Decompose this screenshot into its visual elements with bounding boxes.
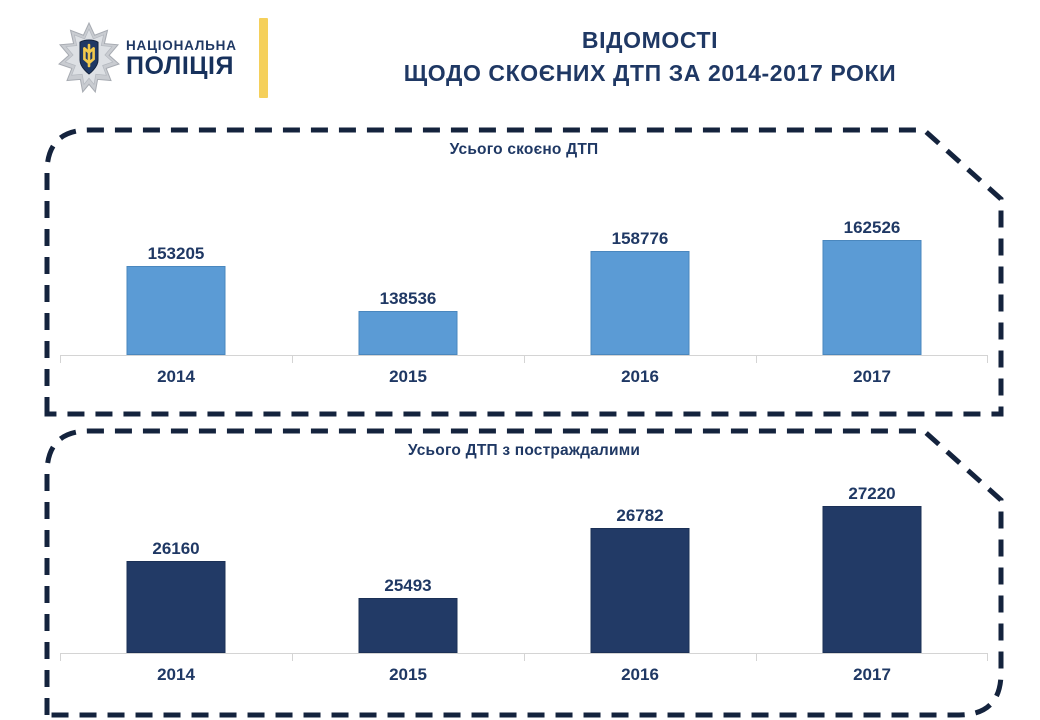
x-axis-label-2015: 2015: [389, 367, 427, 387]
category-slot-2014: 2014: [60, 167, 292, 407]
category-slot-2015: 2015: [292, 167, 524, 407]
x-axis-label-2015: 2015: [389, 665, 427, 685]
page-title-line-1: ВІДОМОСТІ: [300, 24, 1000, 57]
chart-title: Усього ДТП з постраждалими: [44, 442, 1004, 460]
x-axis-label-2014: 2014: [157, 665, 195, 685]
chart-plot-area: 153205 138536 158776 162526 2014 2015 20…: [60, 167, 988, 407]
category-slot-2017: 2017: [756, 468, 988, 708]
page-title-line-2: ЩОДО СКОЄНИХ ДТП ЗА 2014-2017 РОКИ: [300, 57, 1000, 90]
category-slot-2016: 2016: [524, 468, 756, 708]
logo-wordmark: НАЦІОНАЛЬНА ПОЛІЦІЯ: [126, 37, 237, 79]
chart-plot-area: 26160 25493 26782 27220 2014 2015 2016: [60, 468, 988, 708]
x-axis-label-2017: 2017: [853, 367, 891, 387]
x-axis-label-2014: 2014: [157, 367, 195, 387]
chart-panel-total-accidents: Усього скоєно ДТП 153205 138536 158776 1…: [44, 127, 1004, 417]
page-header: НАЦІОНАЛЬНА ПОЛІЦІЯ ВІДОМОСТІ ЩОДО СКОЄН…: [0, 0, 1040, 115]
page-title: ВІДОМОСТІ ЩОДО СКОЄНИХ ДТП ЗА 2014-2017 …: [300, 24, 1000, 91]
police-star-badge-icon: [58, 22, 120, 94]
chart-title: Усього скоєно ДТП: [44, 141, 1004, 159]
category-slot-2017: 2017: [756, 167, 988, 407]
header-divider: [259, 18, 268, 98]
category-slot-2014: 2014: [60, 468, 292, 708]
national-police-logo: НАЦІОНАЛЬНА ПОЛІЦІЯ: [58, 18, 248, 98]
category-slot-2016: 2016: [524, 167, 756, 407]
chart-panel-injury-accidents: Усього ДТП з постраждалими 26160 25493 2…: [44, 428, 1004, 718]
x-axis-label-2016: 2016: [621, 367, 659, 387]
x-axis-label-2017: 2017: [853, 665, 891, 685]
logo-line-1: НАЦІОНАЛЬНА: [126, 39, 237, 53]
logo-line-2: ПОЛІЦІЯ: [126, 54, 237, 79]
x-axis-label-2016: 2016: [621, 665, 659, 685]
category-slot-2015: 2015: [292, 468, 524, 708]
